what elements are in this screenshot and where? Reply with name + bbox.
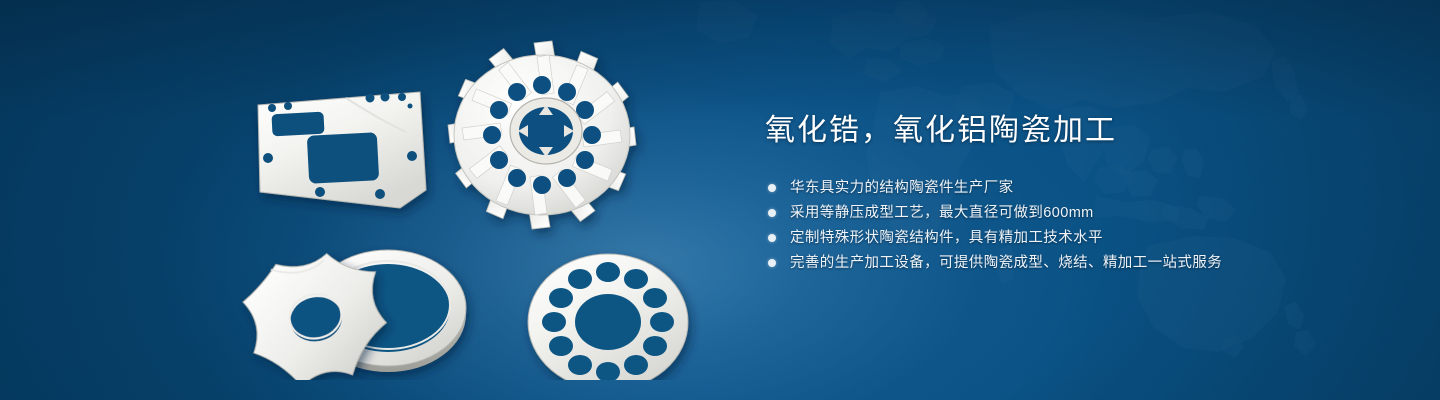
bullet-dot-icon [768, 259, 776, 267]
bullet-dot-icon [768, 234, 776, 242]
bullet-dot-icon [768, 209, 776, 217]
feature-item-2: 采用等静压成型工艺，最大直径可做到600mm [768, 205, 1365, 221]
feature-text-1: 华东具实力的结构陶瓷件生产厂家 [790, 180, 1014, 196]
banner-copy: 氧化锆，氧化铝陶瓷加工 华东具实力的结构陶瓷件生产厂家 采用等静压成型工艺，最大… [765, 110, 1365, 280]
ceramic-impeller [448, 41, 636, 229]
feature-list: 华东具实力的结构陶瓷件生产厂家 采用等静压成型工艺，最大直径可做到600mm 定… [768, 180, 1365, 271]
hero-banner: 氧化锆，氧化铝陶瓷加工 华东具实力的结构陶瓷件生产厂家 采用等静压成型工艺，最大… [0, 0, 1440, 400]
banner-headline: 氧化锆，氧化铝陶瓷加工 [765, 110, 1365, 152]
feature-item-4: 完善的生产加工设备，可提供陶瓷成型、烧结、精加工一站式服务 [768, 255, 1365, 271]
feature-text-4: 完善的生产加工设备，可提供陶瓷成型、烧结、精加工一站式服务 [790, 255, 1222, 271]
bullet-dot-icon [768, 184, 776, 192]
ceramic-mounting-plate [258, 92, 426, 208]
ceramic-perforated-disc [528, 254, 688, 380]
feature-text-3: 定制特殊形状陶瓷结构件，具有精加工技术水平 [790, 230, 1103, 246]
ceramic-products-image [230, 40, 730, 380]
feature-text-2: 采用等静压成型工艺，最大直径可做到600mm [790, 205, 1094, 221]
feature-item-1: 华东具实力的结构陶瓷件生产厂家 [768, 180, 1365, 196]
feature-item-3: 定制特殊形状陶瓷结构件，具有精加工技术水平 [768, 230, 1365, 246]
